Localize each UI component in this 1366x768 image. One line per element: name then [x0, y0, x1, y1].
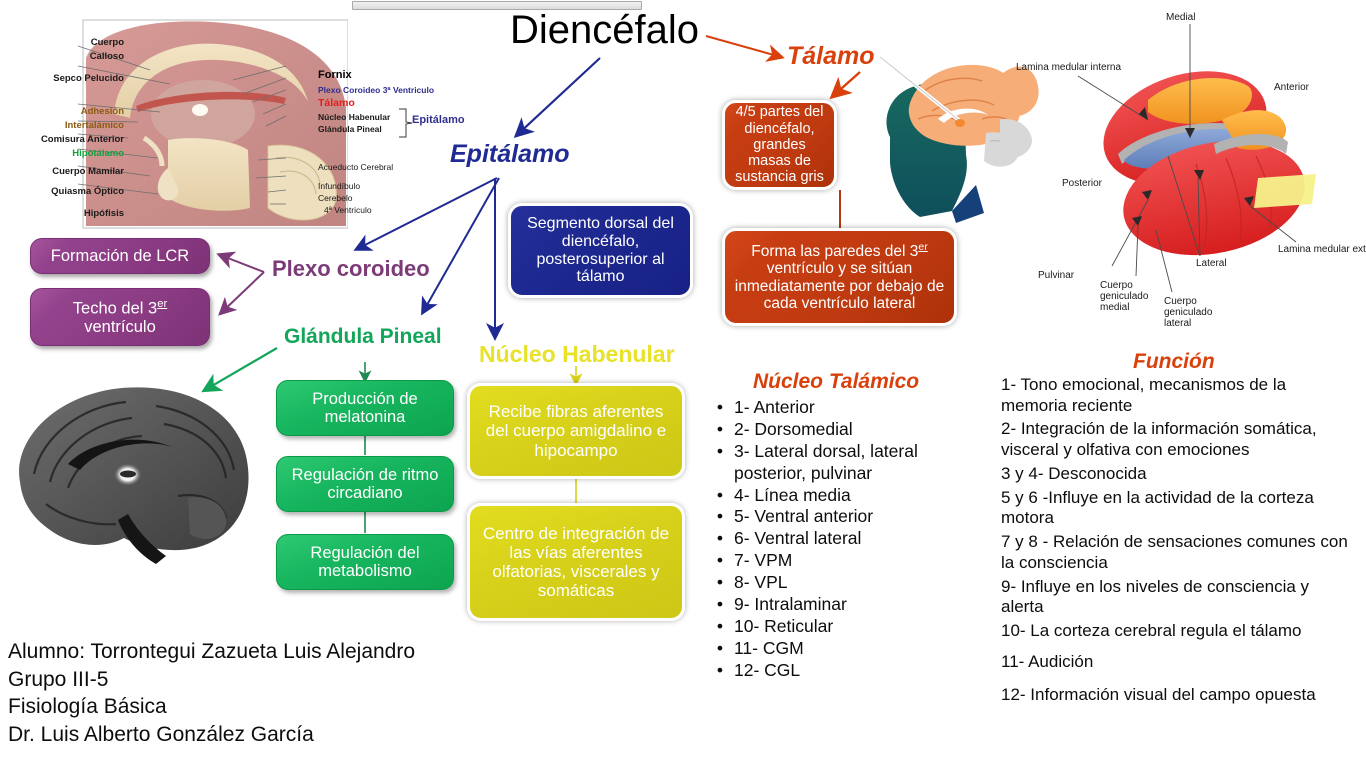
list-item-label: 5- Ventral anterior: [734, 506, 873, 528]
svg-text:Posterior: Posterior: [1062, 178, 1103, 189]
box-talamo-descripcion[interactable]: 4/5 partes del diencéfalo, grandes masas…: [722, 100, 837, 190]
box-techo-pre: Techo del 3: [73, 299, 157, 317]
bullet-icon: •: [706, 485, 734, 507]
svg-text:lateral: lateral: [1164, 318, 1191, 329]
funcion-item: 2- Integración de la información somátic…: [1001, 419, 1353, 460]
funcion-list: 1- Tono emocional, mecanismos de la memo…: [1001, 375, 1353, 708]
svg-text:Pulvinar: Pulvinar: [1038, 270, 1075, 281]
heading-glandula-pineal: Glándula Pineal: [284, 325, 442, 349]
box-talamo-paredes-pre: Forma las paredes del 3: [751, 243, 918, 260]
bullet-icon: •: [706, 550, 734, 572]
box-habenular-fibras[interactable]: Recibe fibras aferentes del cuerpo amigd…: [467, 383, 685, 479]
label-plexo-coroideo-3v: Plexo Coroideo 3ª Ventriculo: [318, 84, 443, 96]
svg-text:medial: medial: [1100, 302, 1129, 313]
bullet-icon: •: [706, 594, 734, 616]
svg-text:geniculado: geniculado: [1164, 307, 1213, 318]
bullet-icon: •: [706, 572, 734, 594]
bullet-icon: •: [706, 506, 734, 528]
heading-plexo-coroideo: Plexo coroideo: [272, 256, 430, 282]
box-talamo-paredes-post: ventrículo y se sitúan inmediatamente po…: [735, 260, 944, 312]
list-item: •11- CGM: [706, 638, 956, 660]
funcion-item: 5 y 6 -Influye en la actividad de la cor…: [1001, 488, 1353, 529]
list-item-label: 6- Ventral lateral: [734, 528, 861, 550]
label-fornix: Fornix: [318, 68, 443, 84]
heading-talamo: Tálamo: [787, 42, 875, 71]
svg-text:Lamina medular externa: Lamina medular externa: [1278, 244, 1366, 255]
list-item-label: 4- Línea media: [734, 485, 851, 507]
heading-nucleo-talamico: Núcleo Talámico: [753, 370, 919, 394]
mri-brain-figure: [6, 378, 264, 600]
student-professor: Dr. Luis Alberto González García: [8, 721, 415, 749]
label-infundibulo: Infundíbulo: [318, 180, 443, 192]
nucleo-talamico-list: •1- Anterior •2- Dorsomedial •3- Lateral…: [706, 397, 956, 681]
box-techo-sup: er: [157, 298, 167, 310]
list-item: •5- Ventral anterior: [706, 506, 956, 528]
label-hipofisis: Hipófisis: [16, 207, 124, 221]
bullet-icon: •: [706, 616, 734, 638]
bullet-icon: •: [706, 660, 734, 682]
list-item: •12- CGL: [706, 660, 956, 682]
label-4-ventriculo: 4ª Ventriculo: [318, 204, 443, 216]
bullet-icon: •: [706, 638, 734, 660]
student-name: Alumno: Torrontegui Zazueta Luis Alejand…: [8, 638, 415, 666]
thalamus-3d-figure: Medial Lamina medular interna Anterior P…: [1000, 8, 1366, 338]
label-adhesion: Adhesión: [16, 105, 124, 119]
label-sepco-pelucido: Sepco Pelucido: [16, 72, 124, 86]
box-produccion-melatonina[interactable]: Producción de melatonina: [276, 380, 454, 436]
list-item-label: 11- CGM: [734, 638, 804, 660]
funcion-item: 7 y 8 - Relación de sensaciones comunes …: [1001, 532, 1353, 573]
label-cerebelo: Cerebelo: [318, 192, 443, 204]
box-ritmo-circadiano[interactable]: Regulación de ritmo circadiano: [276, 456, 454, 512]
list-item-label: 3- Lateral dorsal, lateral posterior, pu…: [734, 441, 956, 485]
sagittal-left-labels: Cuerpo Calloso Sepco Pelucido Adhesión I…: [16, 36, 124, 221]
svg-text:geniculado: geniculado: [1100, 291, 1149, 302]
svg-text:Cuerpo: Cuerpo: [1100, 280, 1133, 291]
box-techo-post: ventrículo: [84, 318, 156, 336]
box-habenular-integracion[interactable]: Centro de integración de las vías aferen…: [467, 503, 685, 621]
list-item-label: 10- Reticular: [734, 616, 833, 638]
bullet-icon: •: [706, 397, 734, 419]
box-regulacion-metabolismo[interactable]: Regulación del metabolismo: [276, 534, 454, 590]
box-formacion-lcr[interactable]: Formación de LCR: [30, 238, 210, 274]
heading-nucleo-habenular: Núcleo Habenular: [479, 341, 675, 368]
list-item: •3- Lateral dorsal, lateral posterior, p…: [706, 441, 956, 485]
student-course: Fisiología Básica: [8, 693, 415, 721]
slide-canvas: Cuerpo Calloso Sepco Pelucido Adhesión I…: [0, 0, 1366, 768]
funcion-item: 3 y 4- Desconocida: [1001, 464, 1353, 485]
svg-text:Lamina medular interna: Lamina medular interna: [1016, 62, 1121, 73]
svg-text:Lateral: Lateral: [1196, 258, 1227, 269]
label-intertalamico: Intertalámico: [16, 119, 124, 133]
svg-text:Anterior: Anterior: [1274, 82, 1310, 93]
list-item-label: 2- Dorsomedial: [734, 419, 853, 441]
list-item-label: 12- CGL: [734, 660, 800, 682]
label-talamo: Tálamo: [318, 96, 443, 111]
bullet-icon: •: [706, 528, 734, 550]
list-item-label: 9- Intralaminar: [734, 594, 847, 616]
box-talamo-paredes[interactable]: Forma las paredes del 3er ventrículo y s…: [722, 228, 957, 326]
list-item: •4- Línea media: [706, 485, 956, 507]
label-comisura-anterior: Comisura Anterior: [16, 133, 124, 147]
list-item-label: 8- VPL: [734, 572, 788, 594]
funcion-item: 10- La corteza cerebral regula el tálamo: [1001, 621, 1353, 642]
box-epitalamo-descripcion[interactable]: Segmento dorsal del diencéfalo, posteros…: [508, 203, 693, 298]
box-techo-tercer-ventriculo[interactable]: Techo del 3er ventrículo: [30, 288, 210, 346]
funcion-item: 11- Audición: [1001, 652, 1353, 673]
bullet-icon: •: [706, 419, 734, 441]
label-cuerpo-mamilar: Cuerpo Mamilar: [16, 165, 124, 179]
list-item: •1- Anterior: [706, 397, 956, 419]
heading-epitalamo: Epitálamo: [450, 140, 569, 169]
funcion-item: 12- Información visual del campo opuesta: [1001, 685, 1353, 706]
list-item-label: 1- Anterior: [734, 397, 815, 419]
list-item: •6- Ventral lateral: [706, 528, 956, 550]
student-group: Grupo III-5: [8, 666, 415, 694]
svg-text:Cuerpo: Cuerpo: [1164, 296, 1197, 307]
label-quiasma-optico: Quiasma Óptico: [16, 185, 124, 199]
label-epitalamo-figure: Epitálamo: [412, 114, 465, 126]
bullet-icon: •: [706, 441, 734, 485]
page-title: Diencéfalo: [510, 8, 699, 53]
list-item: •9- Intralaminar: [706, 594, 956, 616]
list-item: •10- Reticular: [706, 616, 956, 638]
list-item: •8- VPL: [706, 572, 956, 594]
label-acueducto-cerebral: Acueducto Cerebral: [318, 161, 443, 173]
label-cuerpo-calloso: Cuerpo: [16, 36, 124, 50]
heading-funcion: Función: [1133, 350, 1215, 374]
label-calloso-2: Calloso: [16, 50, 124, 64]
list-item: •7- VPM: [706, 550, 956, 572]
sagittal-right-labels: Fornix Plexo Coroideo 3ª Ventriculo Tála…: [318, 68, 443, 216]
student-info: Alumno: Torrontegui Zazueta Luis Alejand…: [8, 638, 415, 749]
box-talamo-paredes-sup: er: [918, 241, 927, 253]
list-item-label: 7- VPM: [734, 550, 792, 572]
list-item: •2- Dorsomedial: [706, 419, 956, 441]
funcion-item: 9- Influye en los niveles de consciencia…: [1001, 577, 1353, 618]
svg-text:Medial: Medial: [1166, 12, 1195, 23]
label-hipotalamo: Hipotálamo: [16, 147, 124, 161]
funcion-item: 1- Tono emocional, mecanismos de la memo…: [1001, 375, 1353, 416]
